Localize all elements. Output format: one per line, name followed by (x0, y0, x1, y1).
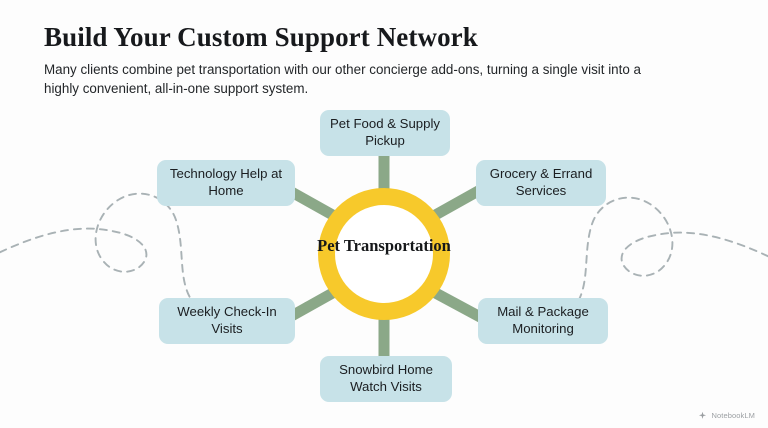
spoke-upper-right (430, 190, 480, 218)
slide-canvas: Build Your Custom Support Network Many c… (0, 0, 768, 428)
hub-label: Pet Transportation (309, 236, 459, 256)
node-technology-help-at-home[interactable]: Technology Help at Home (157, 160, 295, 206)
notebooklm-spark-icon (698, 411, 707, 420)
spoke-lower-right (430, 290, 482, 318)
node-mail-package-monitoring[interactable]: Mail & Package Monitoring (478, 298, 608, 344)
node-snowbird-home-watch-visits[interactable]: Snowbird Home Watch Visits (320, 356, 452, 402)
node-pet-food-supply-pickup[interactable]: Pet Food & Supply Pickup (320, 110, 450, 156)
node-grocery-errand-services[interactable]: Grocery & Errand Services (476, 160, 606, 206)
support-network-diagram: Pet Transportation Pet Food & Supply Pic… (0, 0, 768, 428)
node-weekly-check-in-visits[interactable]: Weekly Check-In Visits (159, 298, 295, 344)
watermark-label: NotebookLM (711, 411, 755, 420)
notebooklm-watermark: NotebookLM (698, 411, 755, 420)
spoke-lower-left (288, 290, 338, 318)
